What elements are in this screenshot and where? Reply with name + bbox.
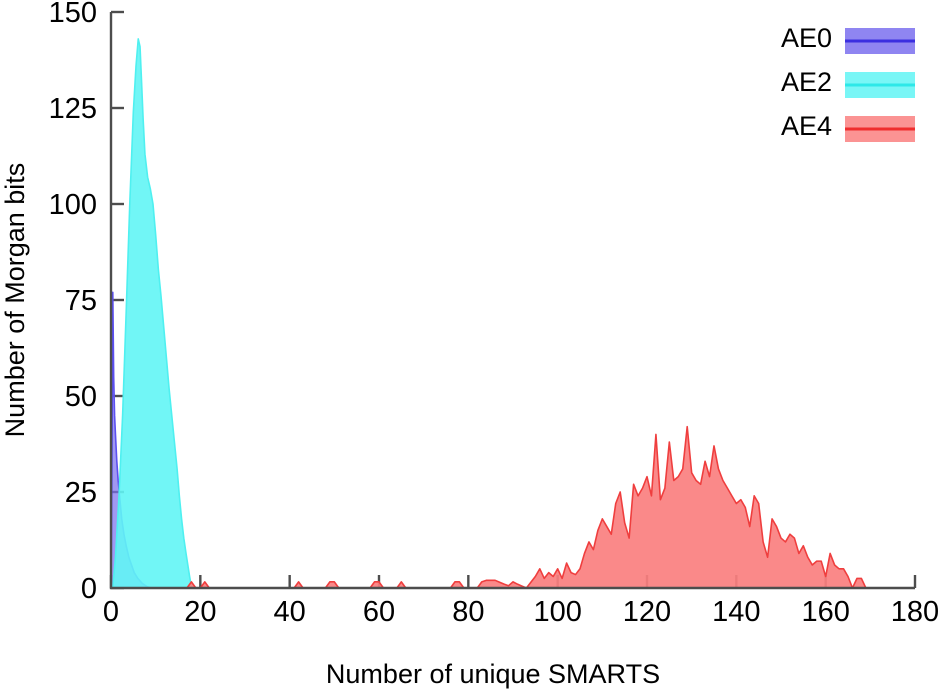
x-tick-label: 100 [533, 596, 581, 628]
x-tick-label: 60 [363, 596, 395, 628]
series-area [187, 427, 866, 588]
y-tick-label: 100 [49, 189, 97, 221]
density-plot-figure: 0255075100125150 02040608010012014016018… [0, 0, 946, 693]
x-tick-label: 40 [274, 596, 306, 628]
y-axis-tick-labels: 0255075100125150 [49, 0, 97, 605]
legend: AE0AE2AE4 [781, 23, 915, 142]
y-axis-title: Number of Morgan bits [0, 163, 30, 438]
legend-label: AE0 [781, 23, 832, 53]
series-ae2 [113, 39, 193, 588]
axis-frame [111, 12, 915, 588]
legend-item-ae4[interactable]: AE4 [781, 111, 915, 142]
legend-label: AE2 [781, 67, 832, 97]
y-tick-label: 125 [49, 93, 97, 125]
series-ae4 [187, 427, 866, 588]
legend-item-ae0[interactable]: AE0 [781, 23, 915, 54]
x-tick-label: 80 [452, 596, 484, 628]
x-tick-label: 20 [184, 596, 216, 628]
x-axis-tick-labels: 020406080100120140160180 [103, 596, 939, 628]
y-tick-label: 75 [65, 285, 97, 317]
y-tick-label: 0 [81, 573, 97, 605]
plot-canvas: 0255075100125150 02040608010012014016018… [0, 0, 946, 693]
x-tick-label: 140 [712, 596, 760, 628]
y-tick-label: 25 [65, 477, 97, 509]
x-tick-label: 160 [801, 596, 849, 628]
x-tick-label: 180 [891, 596, 939, 628]
x-axis-title: Number of unique SMARTS [326, 659, 660, 689]
axis-tick-marks [111, 12, 915, 588]
legend-label: AE4 [781, 111, 832, 141]
y-tick-label: 50 [65, 381, 97, 413]
data-series-group [111, 39, 866, 588]
y-tick-label: 150 [49, 0, 97, 29]
legend-item-ae2[interactable]: AE2 [781, 67, 915, 98]
x-tick-label: 120 [623, 596, 671, 628]
x-tick-label: 0 [103, 596, 119, 628]
